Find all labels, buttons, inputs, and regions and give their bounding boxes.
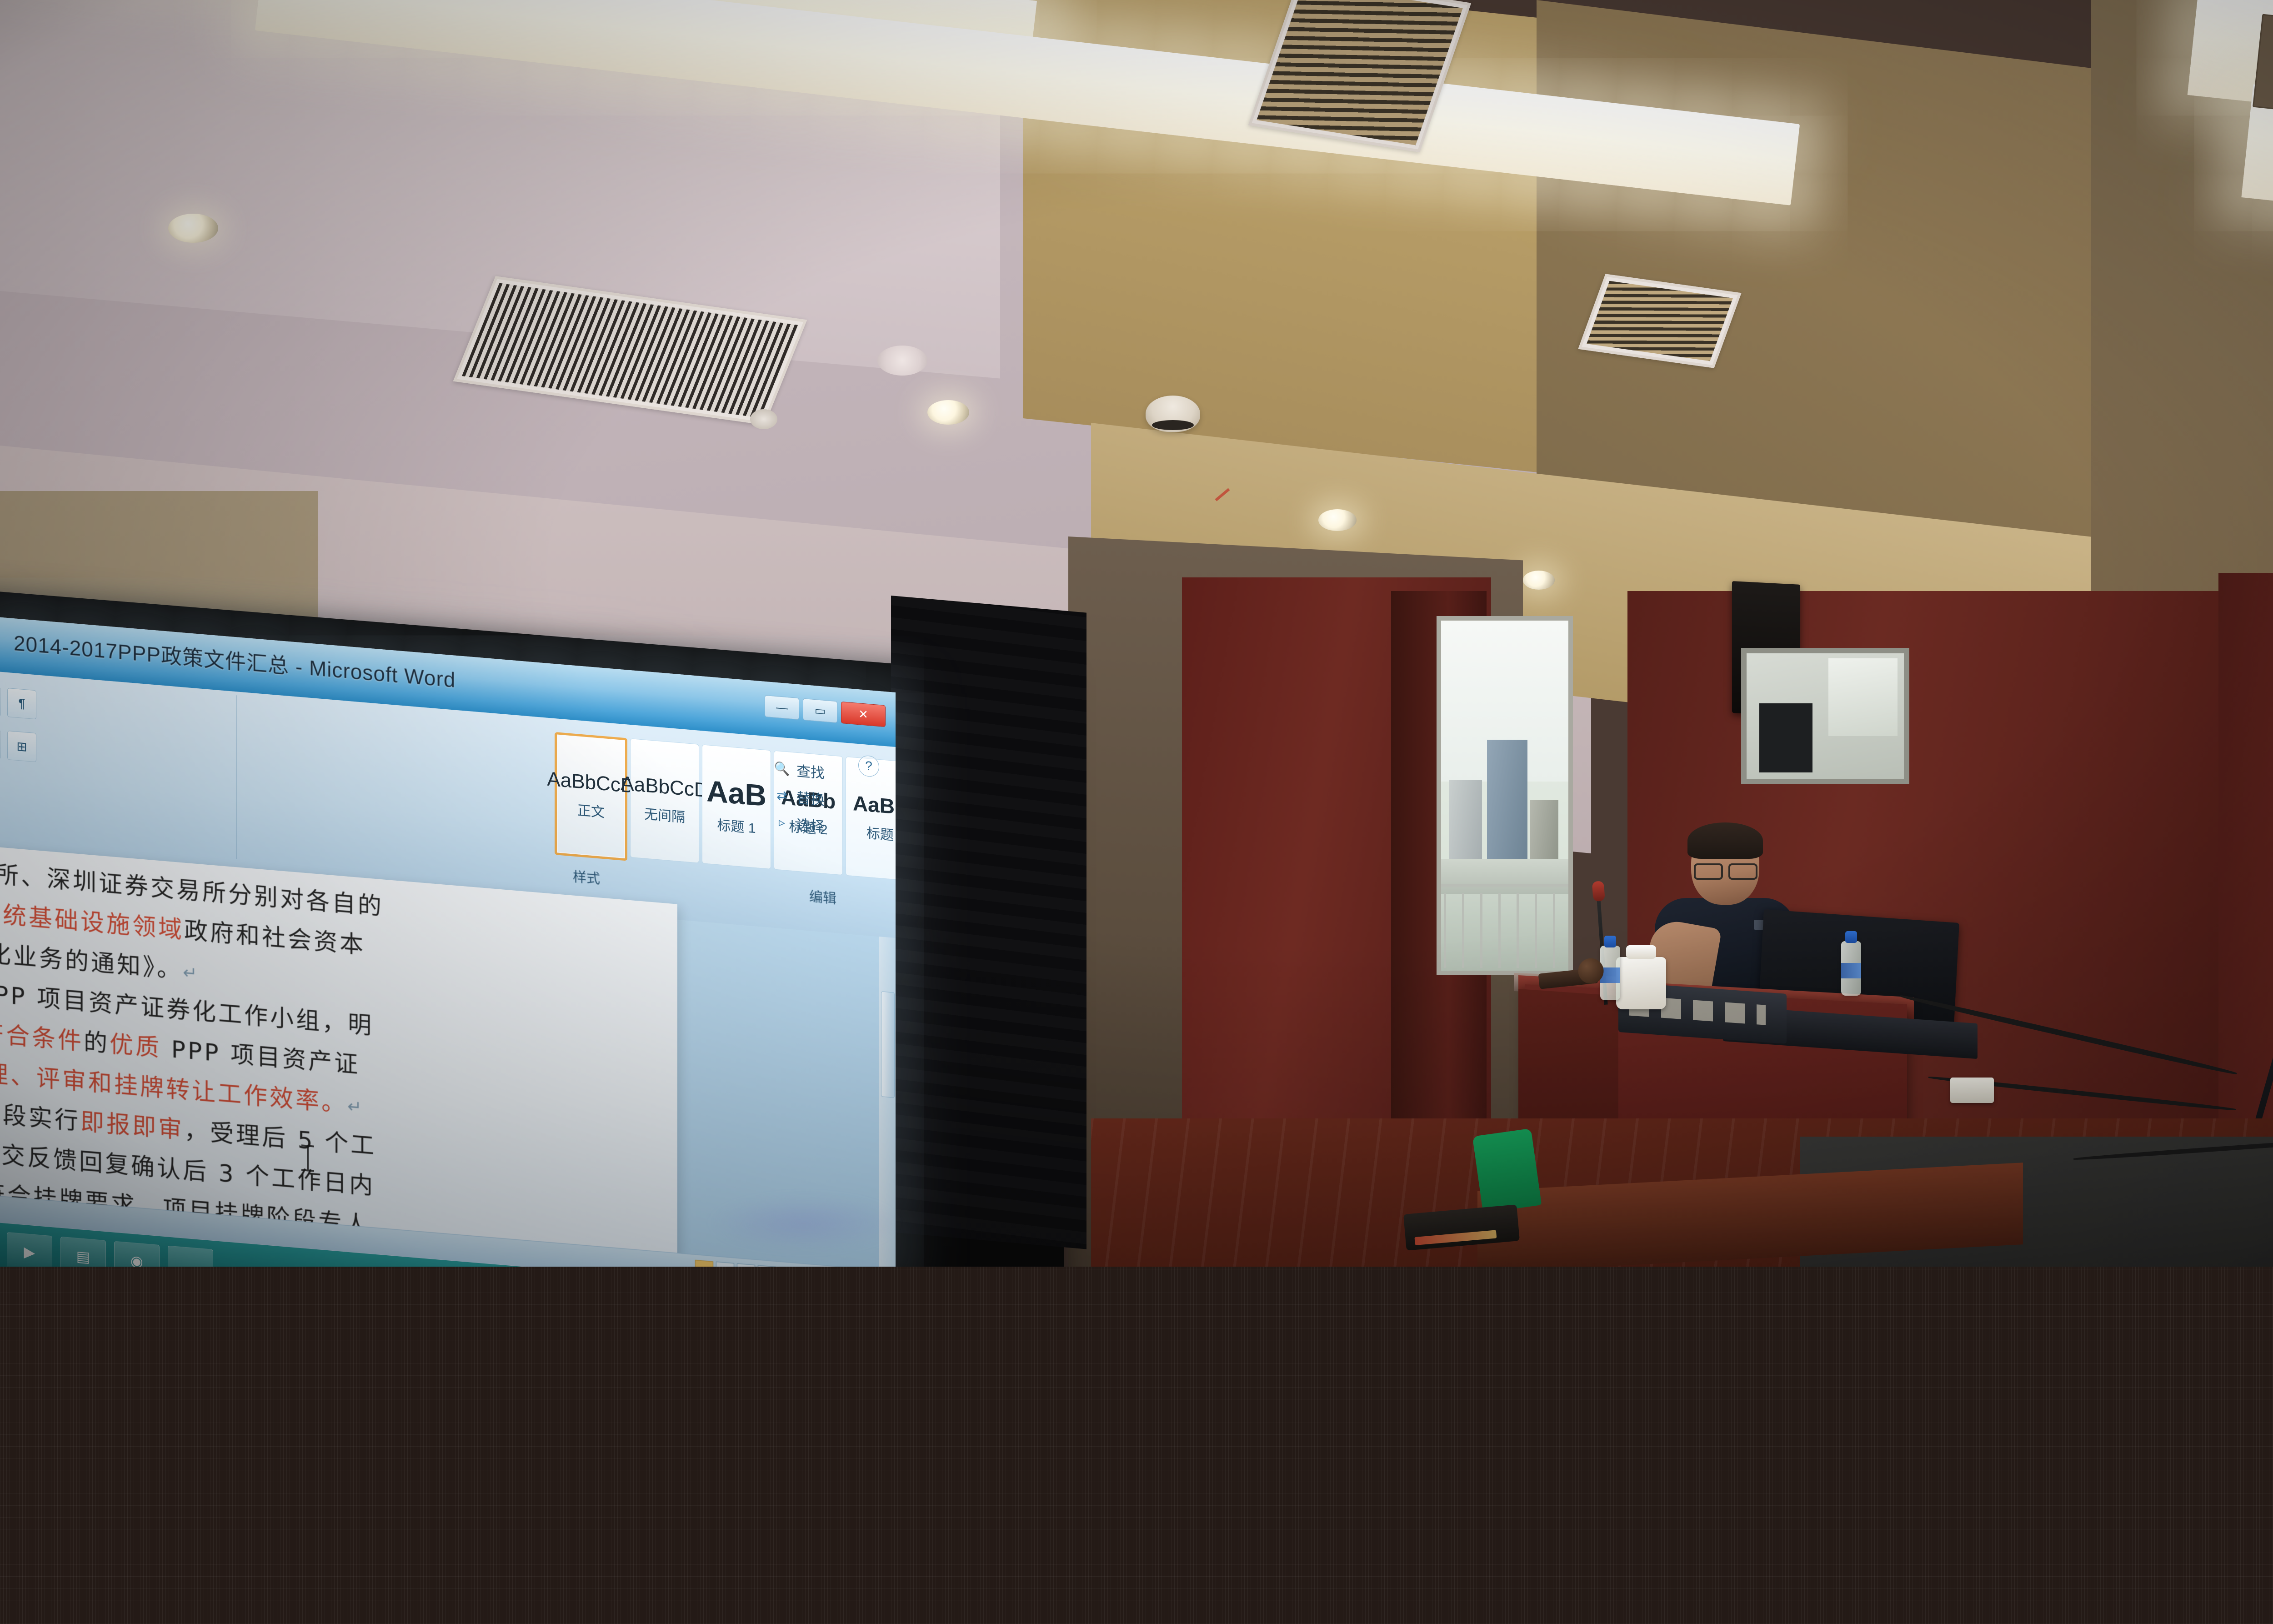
balcony-railing [1441, 884, 1568, 971]
screenshot-root: 2014-2017PPP政策文件汇总 - Microsoft Word — ▭ … [0, 0, 2273, 1624]
bottom-letterbox-band [0, 1267, 2273, 1624]
green-bag [1472, 1128, 1542, 1213]
ribbon-group-paragraph-label: 段落 [0, 806, 5, 837]
shading-icon[interactable]: ▦ [0, 727, 1, 759]
show-marks-icon[interactable]: ¶ [7, 688, 36, 719]
text-cursor [307, 1145, 309, 1171]
recessed-downlight-2 [927, 400, 969, 425]
minimize-button[interactable]: — [765, 695, 799, 720]
find-label: 查找 [796, 760, 825, 782]
select-label: 选择 [796, 813, 825, 836]
interior-window-panel [1741, 648, 1909, 784]
replace-icon: ⇄ [773, 786, 791, 805]
taskbar-browser-icon[interactable]: ◉ [114, 1241, 160, 1267]
full-screen-reading-icon[interactable] [716, 1262, 734, 1267]
recessed-downlight-3 [1318, 509, 1357, 531]
window-bright-pane [1828, 658, 1898, 736]
sort-icon[interactable]: A↓ [0, 685, 1, 716]
borders-icon[interactable]: ⊞ [7, 731, 36, 762]
tea-mug [1616, 957, 1666, 1009]
projector-light-spill [709, 1196, 900, 1250]
ribbon-group-editing-label: 编辑 [764, 882, 882, 912]
building-icon [1487, 740, 1528, 866]
water-bottle [1841, 941, 1861, 996]
style-label: 无间隔 [644, 803, 685, 827]
projection-screen-dark-area [891, 596, 1086, 1249]
taskbar-explorer-icon[interactable]: ▤ [60, 1237, 106, 1267]
smoke-detector-icon [1146, 396, 1200, 432]
restore-button[interactable]: ▭ [803, 698, 837, 723]
ribbon-group-styles-label: 样式 [518, 861, 655, 892]
replace-button[interactable]: ⇄ 替换 [773, 784, 886, 814]
recessed-downlight-4 [1523, 571, 1555, 590]
style-card-normal[interactable]: AaBbCcD 正文 [555, 732, 627, 861]
building-icon [1530, 800, 1558, 866]
replace-label: 替换 [796, 787, 825, 809]
sprinkler-head-icon [750, 409, 777, 429]
print-layout-icon[interactable] [695, 1260, 713, 1267]
presenter-hair [1687, 822, 1763, 859]
window [1437, 616, 1573, 975]
style-card-heading-1[interactable]: AaB 标题 1 [702, 744, 771, 869]
building-icon [1449, 780, 1482, 866]
select-icon: ▹ [773, 812, 791, 832]
taskbar-media-icon[interactable]: ▶ [7, 1232, 52, 1267]
web-layout-icon[interactable] [737, 1263, 755, 1267]
style-preview: AaBbCcD [621, 773, 708, 801]
style-label: 正文 [577, 799, 605, 821]
power-outlet [1950, 1078, 1994, 1103]
recessed-downlight-1 [168, 214, 218, 243]
projected-word-window[interactable]: 2014-2017PPP政策文件汇总 - Microsoft Word — ▭ … [0, 612, 896, 1267]
window-dark-pane [1759, 703, 1813, 772]
conference-room-photo: 2014-2017PPP政策文件汇总 - Microsoft Word — ▭ … [0, 0, 2273, 1267]
style-preview: AaB [706, 776, 766, 811]
glasses-icon [1694, 863, 1757, 877]
close-button[interactable]: ✕ [841, 702, 886, 727]
select-button[interactable]: ▹ 选择 [773, 811, 886, 841]
window-controls: — ▭ ✕ [765, 695, 886, 727]
find-icon: 🔍 [773, 759, 791, 778]
taskbar-punctuation-icon[interactable]: ， [168, 1246, 213, 1267]
recessed-speaker-grille [877, 346, 927, 376]
style-card-no-spacing[interactable]: AaBbCcD 无间隔 [630, 738, 699, 863]
scrollbar-thumb[interactable] [881, 991, 895, 1098]
city-skyline [1441, 740, 1568, 866]
style-label: 标题 1 [717, 814, 756, 837]
tripod-leg [2248, 867, 2273, 1148]
